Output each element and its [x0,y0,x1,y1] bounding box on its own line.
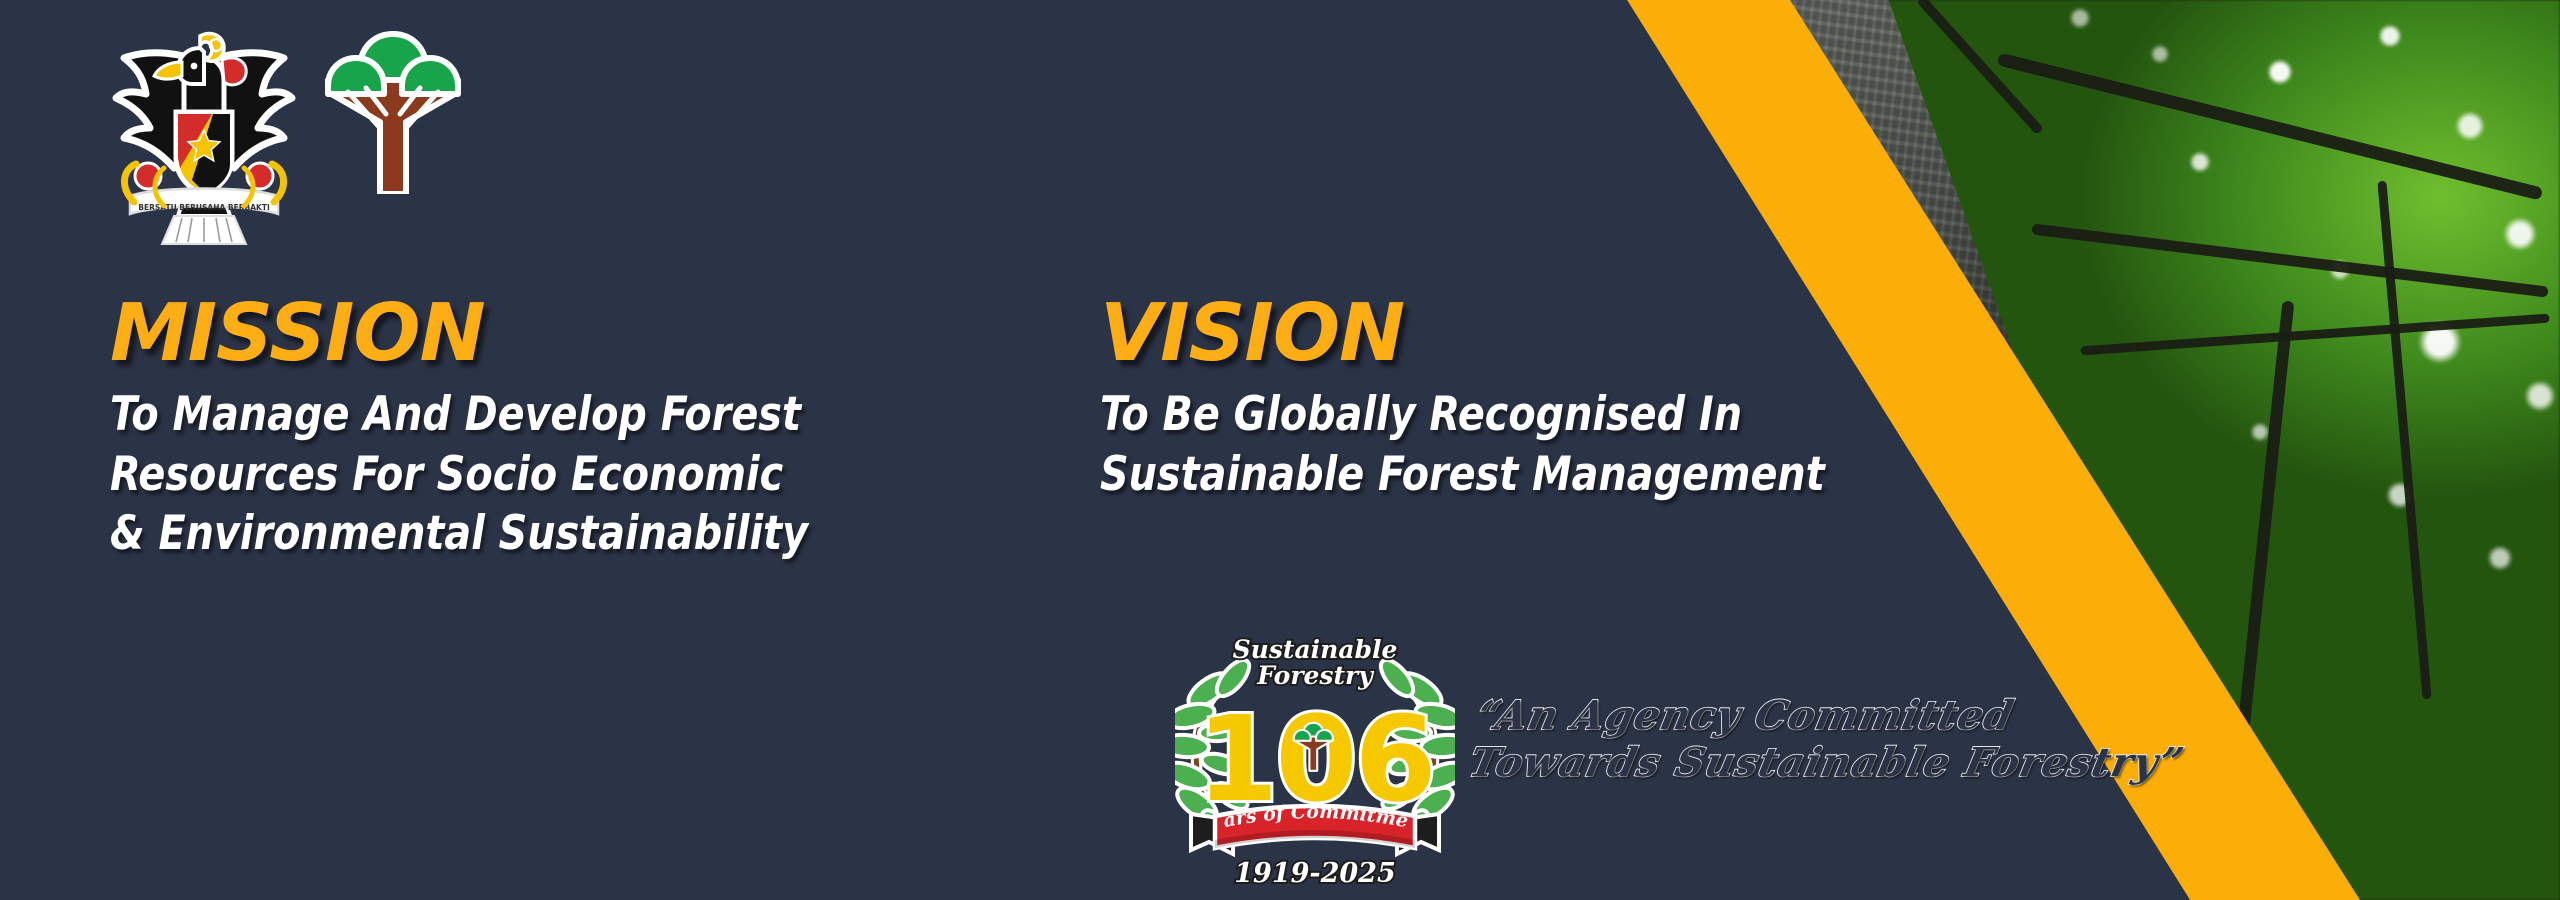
badge-top-text-line1: Sustainable [1233,635,1398,664]
anniversary-badge: Sustainable Forestry 106 Years of Co [1175,632,1455,894]
vision-block: VISION To Be Globally Recognised In Sust… [1100,296,1871,504]
forest-department-tree-logo-icon [322,18,464,194]
badge-year-range: 1919-2025 [1234,858,1396,889]
vision-heading: VISION [1100,296,1871,371]
coat-of-arms-motto: BERSATU BERUSAHA BERBAKTI [138,203,270,212]
sarawak-coat-of-arms-icon: BERSATU BERUSAHA BERBAKTI [100,18,308,246]
tagline-block: “An Agency Committed Towards Sustainable… [1478,692,2078,822]
anniversary-badge-icon: Sustainable Forestry 106 Years of Co [1175,632,1455,894]
mission-block: MISSION To Manage And Develop Forest Res… [110,296,853,564]
mission-vision-banner: BERSATU BERUSAHA BERBAKTI MISS [0,0,2560,900]
vision-line-2: Sustainable Forest Management [1100,445,1825,505]
vision-line-1: To Be Globally Recognised In [1100,385,1825,445]
tagline-line-1: “An Agency Committed [1473,692,2083,739]
mission-heading: MISSION [110,296,853,371]
mission-line-1: To Manage And Develop Forest [110,385,808,445]
logo-row: BERSATU BERUSAHA BERBAKTI [100,18,464,246]
mission-line-2: Resources For Socio Economic [110,445,808,505]
mission-line-3: & Environmental Sustainability [110,504,808,564]
tagline-line-2: Towards Sustainable Forestry” [1465,739,2083,786]
badge-top-text-line2: Forestry [1256,661,1374,690]
